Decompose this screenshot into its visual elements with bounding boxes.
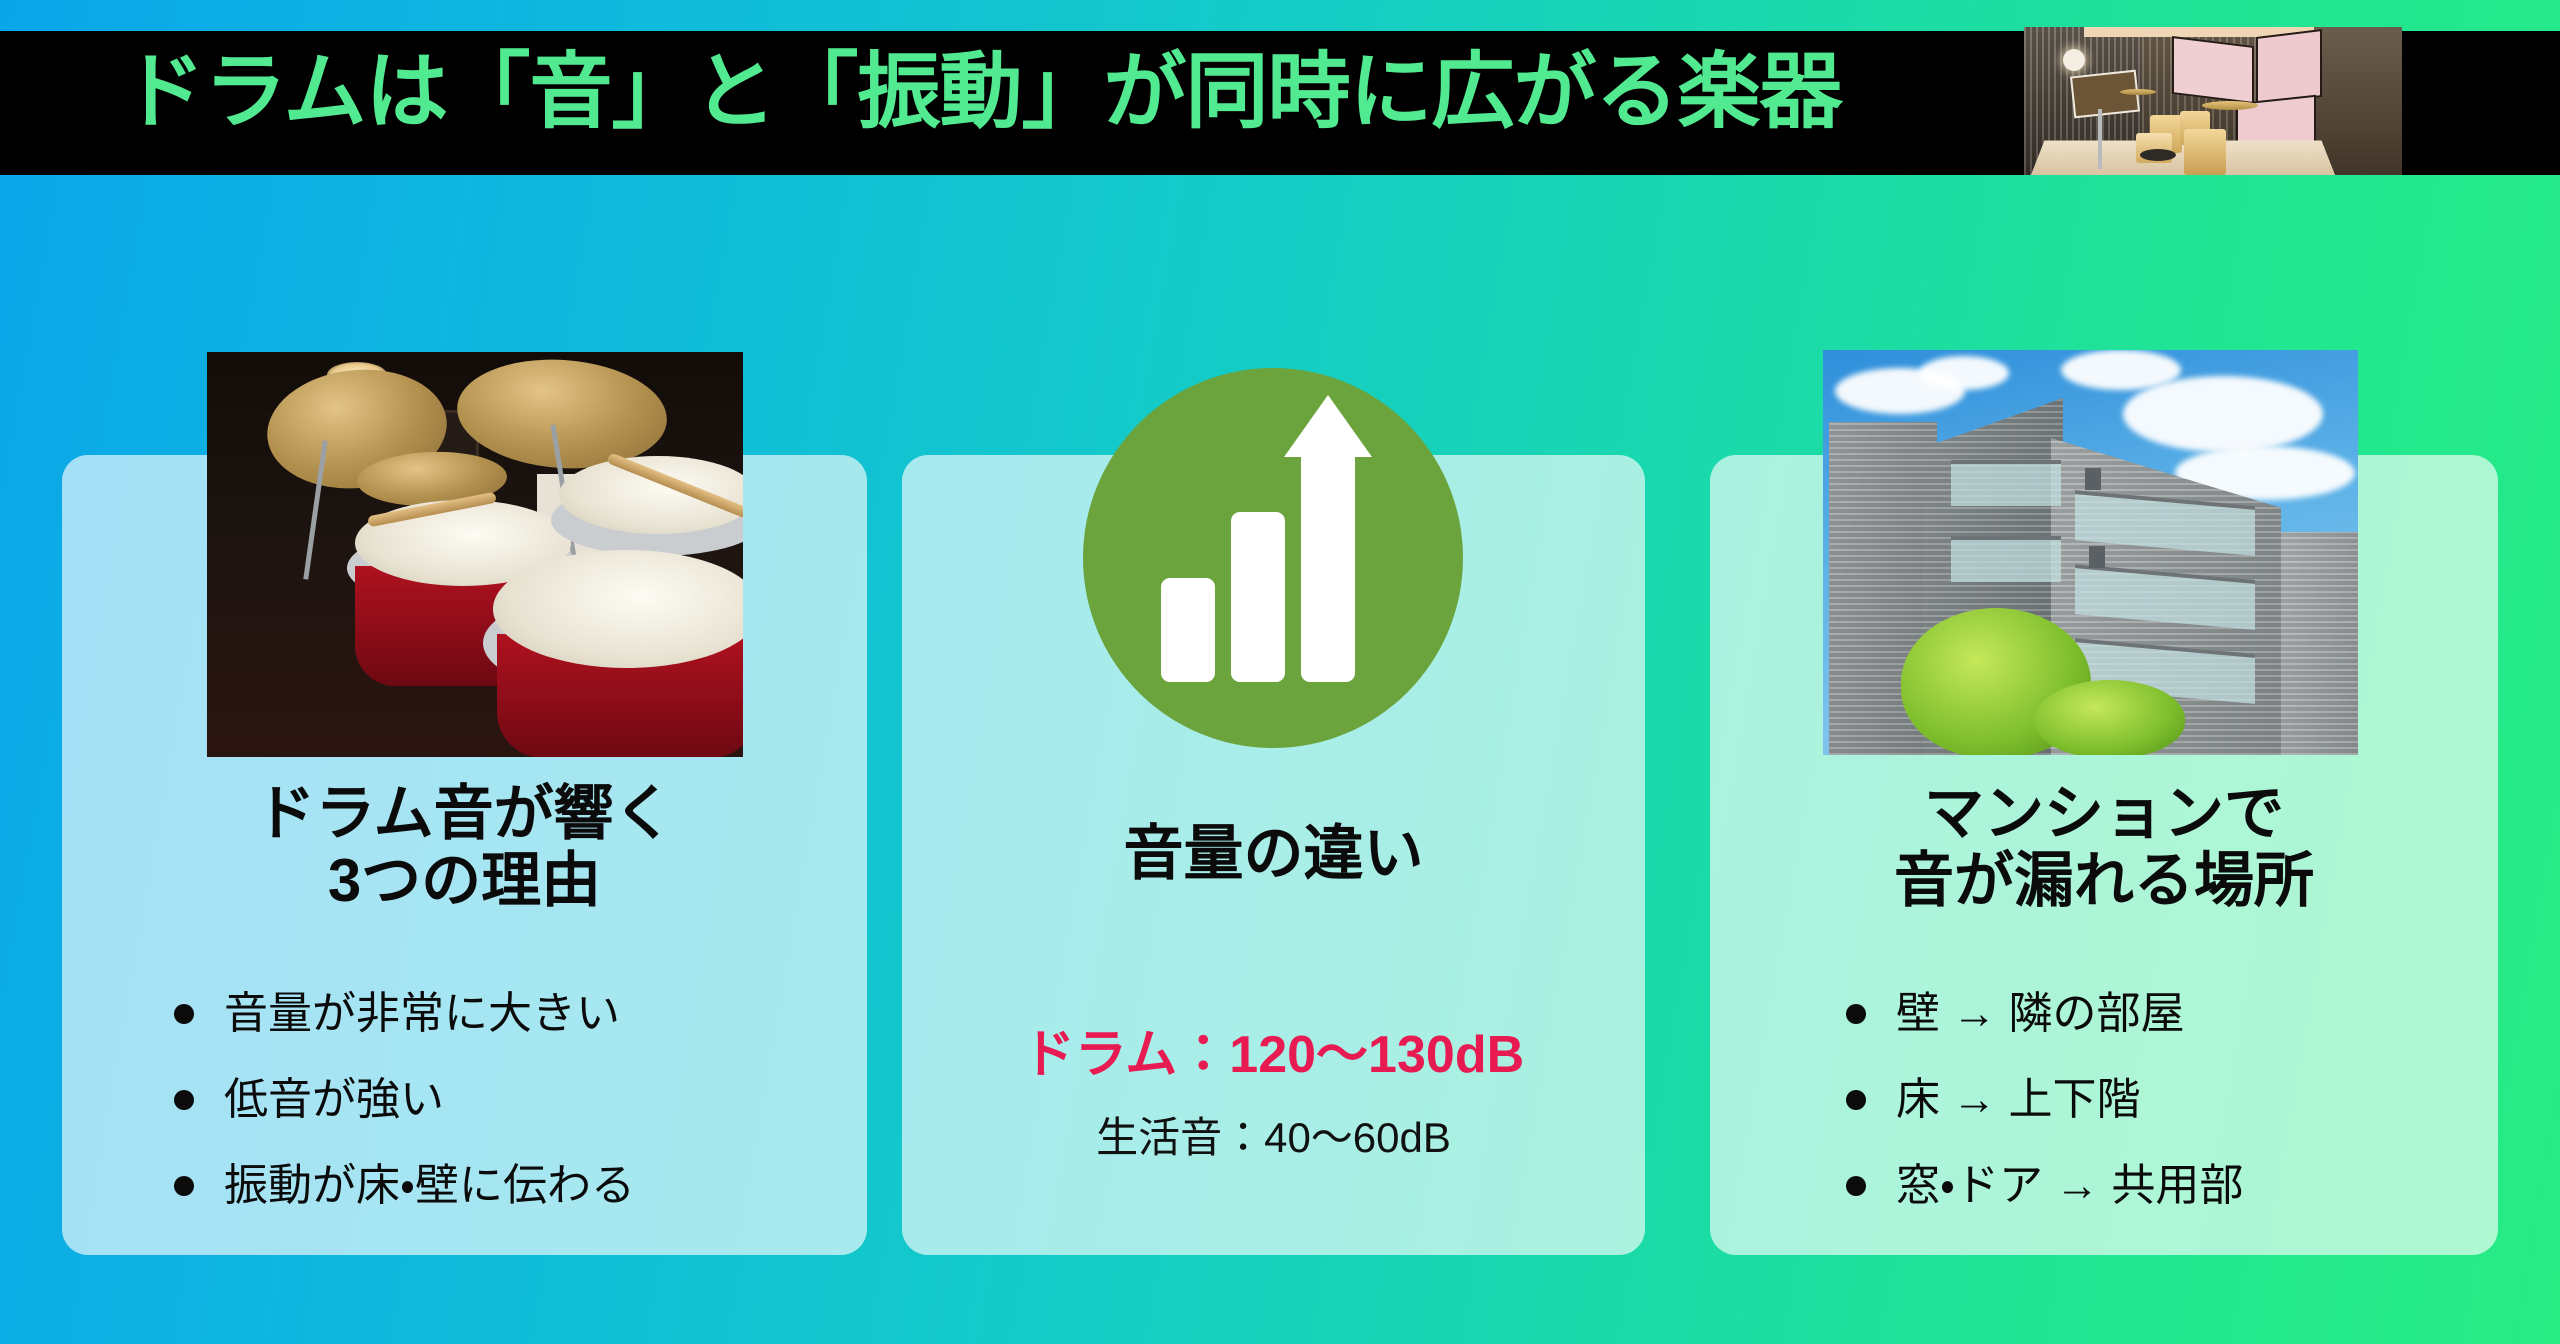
acoustic-panel [2172,36,2254,104]
chart-arrow-stem [1301,444,1355,682]
apartment-building-photo [1823,350,2358,755]
chart-arrow-head [1284,395,1372,457]
balcony [1951,536,2061,582]
tree [2035,680,2185,755]
list-item: 振動が床・壁に伝わる [168,1160,868,1212]
drum-kit-photo [207,352,743,757]
slide-root: ドラムは「音」と「振動」が同時に広がる楽器 [0,0,2560,1344]
list-item: 壁 → 隣の部屋 [1840,988,2500,1040]
ceiling-lamp [2063,49,2085,71]
cloud [1919,356,2009,390]
cloud [2123,376,2323,452]
list-item: 窓・ドア → 共用部 [1840,1160,2500,1212]
balcony [1951,460,2061,506]
drum-stool [2140,149,2176,161]
cymbal [2120,89,2156,95]
bass-drum [2184,129,2226,175]
window [2085,468,2101,490]
chart-bar-small [1161,578,1215,682]
music-stand-pole [2098,109,2102,169]
crash-cymbal [2202,101,2258,110]
card-volume-title: 音量の違い [902,820,1645,887]
page-title: ドラムは「音」と「振動」が同時に広がる楽器 [122,50,1842,133]
list-item: 音量が非常に大きい [168,988,868,1040]
list-item: 床 → 上下階 [1840,1074,2500,1126]
living-db-subtext: 生活音：40〜60dB [902,1104,1645,1165]
card-reasons-bullet-list: 音量が非常に大きい 低音が強い 振動が床・壁に伝わる [168,988,868,1246]
chart-bar-medium [1231,512,1285,682]
card-reasons-title: ドラム音が響く 3つの理由 [62,780,867,914]
room-floor [2031,141,2335,175]
card-leak-points-bullet-list: 壁 → 隣の部屋 床 → 上下階 窓・ドア → 共用部 [1840,988,2500,1246]
drum-head [493,550,743,668]
drum-practice-room-photo [2024,27,2402,175]
list-item: 低音が強い [168,1074,868,1126]
window [2089,546,2105,568]
acoustic-panel [2256,29,2322,105]
drum-db-highlight: ドラム：120〜130dB [902,1012,1645,1087]
card-leak-points-title: マンションで 音が漏れる場所 [1710,780,2498,914]
